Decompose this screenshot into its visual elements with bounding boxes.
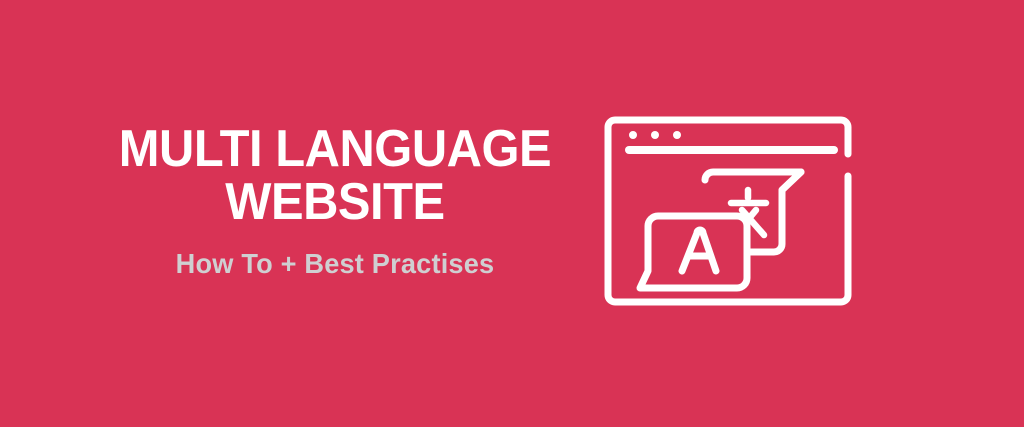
headline-block: MULTI LANGUAGE WEBSITE How To + Best Pra… xyxy=(95,123,575,279)
speech-bubble-latin xyxy=(640,216,747,288)
subtitle: How To + Best Practises xyxy=(102,249,568,279)
page-title-line-2: WEBSITE xyxy=(109,176,560,229)
window-dot-3 xyxy=(673,131,681,139)
illustration xyxy=(596,106,876,318)
browser-title-bar-dots xyxy=(629,131,681,139)
window-dot-1 xyxy=(629,131,637,139)
page-title-line-1: MULTI LANGUAGE xyxy=(109,123,560,176)
banner: MULTI LANGUAGE WEBSITE How To + Best Pra… xyxy=(0,0,1024,427)
translation-illustration-svg xyxy=(596,106,876,318)
window-dot-2 xyxy=(651,131,659,139)
